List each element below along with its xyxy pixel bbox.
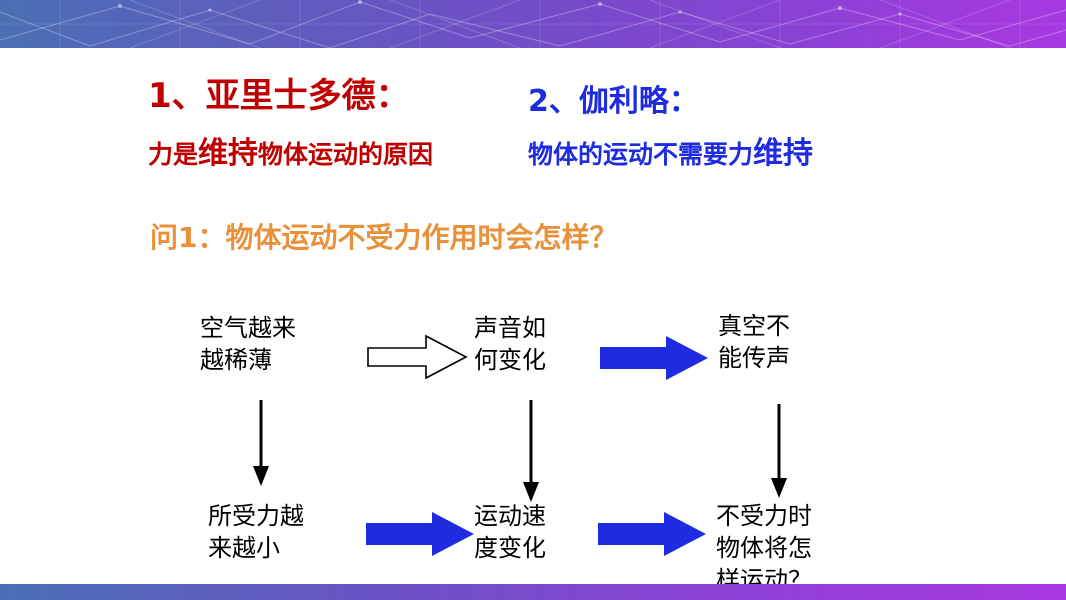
statement-aristotle-emphasis: 维持 [198,136,258,171]
flow-node-force-small: 所受力越 来越小 [208,500,358,564]
statement-aristotle: 力是维持物体运动的原因 [148,128,433,172]
statement-aristotle-pre: 力是 [148,140,198,169]
arrow-air-to-force-small [248,400,274,486]
slide-canvas: 1、亚里士多德： 力是维持物体运动的原因 2、伽利略： 物体的运动不需要力维持 … [0,0,1066,600]
flow-node-speed: 运动速 度变化 [474,500,594,564]
arrow-air-to-sound [368,336,468,378]
top-decorative-band [0,0,1066,48]
bottom-decorative-band [0,584,1066,600]
statement-aristotle-post: 物体运动的原因 [258,140,433,169]
statement-galileo: 物体的运动不需要力维持 [528,128,813,172]
arrow-force-small-to-speed [366,512,476,556]
heading-aristotle: 1、亚里士多德： [148,68,410,117]
band-line-pattern [0,0,1066,48]
statement-galileo-pre: 物体的运动不需要力 [528,140,753,169]
arrow-vacuum-to-no-force [766,404,792,498]
arrow-sound-to-vacuum [600,336,710,380]
flow-node-vacuum: 真空不 能传声 [718,310,848,374]
question-prompt: 问1：物体运动不受力作用时会怎样？ [150,216,617,256]
arrow-sound-to-speed [518,400,544,502]
flow-node-sound: 声音如 何变化 [474,312,594,376]
heading-galileo: 2、伽利略： [528,76,699,120]
statement-galileo-emphasis: 维持 [753,136,813,171]
arrow-speed-to-no-force [598,512,708,556]
flow-node-no-force: 不受力时 物体将怎 样运动？ [716,500,876,596]
flow-node-air: 空气越来 越稀薄 [200,312,350,376]
